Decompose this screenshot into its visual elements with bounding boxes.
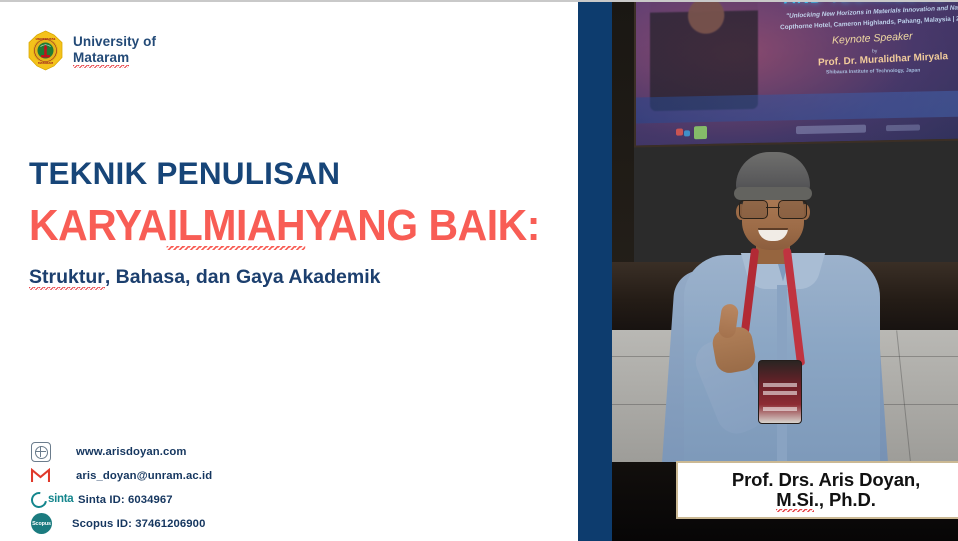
contact-email-text: aris_doyan@unram.ac.id bbox=[65, 470, 212, 482]
contact-row-email[interactable]: aris_doyan@unram.ac.id bbox=[31, 464, 361, 487]
headline-line-2: KARYA ILMIAH YANG BAIK: bbox=[29, 204, 522, 248]
brand-line-1: University of bbox=[73, 34, 156, 49]
left-text-panel: UNIVERSITAS MATARAM University of Matara… bbox=[0, 0, 578, 541]
caption-misspelled-word: M.Si bbox=[776, 490, 814, 510]
speaker-photograph: AND TECHNOLOGY "Unlocking New Horizons i… bbox=[612, 0, 958, 541]
university-crest-icon: UNIVERSITAS MATARAM bbox=[27, 30, 64, 71]
contact-website-text: www.arisdoyan.com bbox=[65, 446, 187, 458]
headline-line-2-misspelled-word: ILMIAH bbox=[167, 204, 305, 248]
caption-line-1: Prof. Drs. Aris Doyan, bbox=[732, 469, 920, 490]
brand-name: University of Mataram bbox=[73, 34, 156, 67]
speaker-name-caption: Prof. Drs. Aris Doyan, M.Si., Ph.D. bbox=[676, 461, 958, 519]
projected-screen-speaker-name: Prof. Dr. Muralidhar Miryala bbox=[818, 51, 948, 68]
top-divider bbox=[0, 0, 958, 2]
speaker-name-caption-text: Prof. Drs. Aris Doyan, M.Si., Ph.D. bbox=[732, 470, 920, 511]
presenter-glasses bbox=[739, 200, 807, 217]
contact-sinta-text: Sinta ID: 6034967 bbox=[78, 494, 173, 506]
gmail-icon bbox=[31, 468, 65, 483]
contact-row-sinta[interactable]: sinta Sinta ID: 6034967 bbox=[31, 488, 361, 511]
sinta-logo-label: sinta bbox=[48, 494, 73, 506]
caption-line-2-rest: ., Ph.D. bbox=[814, 489, 876, 510]
projected-screen: AND TECHNOLOGY "Unlocking New Horizons i… bbox=[634, 0, 958, 147]
headline-line-2-part1: KARYA bbox=[29, 204, 167, 248]
headline-line-2-part2: YANG BAIK: bbox=[305, 204, 540, 248]
projected-screen-keynote-label: Keynote Speaker bbox=[832, 30, 913, 46]
brand-line-2: Mataram bbox=[73, 50, 129, 65]
sinta-icon: sinta bbox=[31, 492, 78, 508]
headline-line-3-misspelled-word: Struktur bbox=[29, 268, 105, 288]
contact-scopus-text: Scopus ID: 37461206900 bbox=[65, 518, 205, 530]
presenter-conference-badge bbox=[758, 360, 802, 424]
scopus-icon: Scopus bbox=[31, 513, 65, 534]
headline-line-3: Struktur, Bahasa, dan Gaya Akademik bbox=[29, 268, 559, 288]
contact-row-scopus[interactable]: Scopus Scopus ID: 37461206900 bbox=[31, 512, 361, 535]
projected-screen-affiliation: Shibaura Institute of Technology, Japan bbox=[826, 68, 920, 76]
svg-text:UNIVERSITAS: UNIVERSITAS bbox=[36, 37, 56, 41]
headline-line-3-rest: , Bahasa, dan Gaya Akademik bbox=[105, 266, 381, 288]
presenter-beanie-hat bbox=[736, 152, 810, 196]
svg-text:MATARAM: MATARAM bbox=[38, 61, 53, 65]
accent-blue-strip bbox=[578, 0, 612, 541]
contact-row-website[interactable]: www.arisdoyan.com bbox=[31, 440, 361, 463]
headline-line-1: TEKNIK PENULISAN bbox=[29, 158, 559, 190]
projected-screen-sponsor-logos bbox=[676, 121, 926, 140]
globe-icon bbox=[31, 442, 65, 462]
presentation-slide: UNIVERSITAS MATARAM University of Matara… bbox=[0, 0, 958, 541]
headline-block: TEKNIK PENULISAN KARYA ILMIAH YANG BAIK:… bbox=[29, 158, 559, 287]
projected-screen-band bbox=[636, 91, 958, 124]
scopus-logo-label: Scopus bbox=[32, 521, 51, 527]
right-image-panel: AND TECHNOLOGY "Unlocking New Horizons i… bbox=[578, 0, 958, 541]
room-wall-left-edge bbox=[612, 0, 634, 300]
contact-list: www.arisdoyan.com aris_doyan@unram.ac.id bbox=[31, 440, 361, 536]
brand-lockup: UNIVERSITAS MATARAM University of Matara… bbox=[27, 30, 156, 71]
